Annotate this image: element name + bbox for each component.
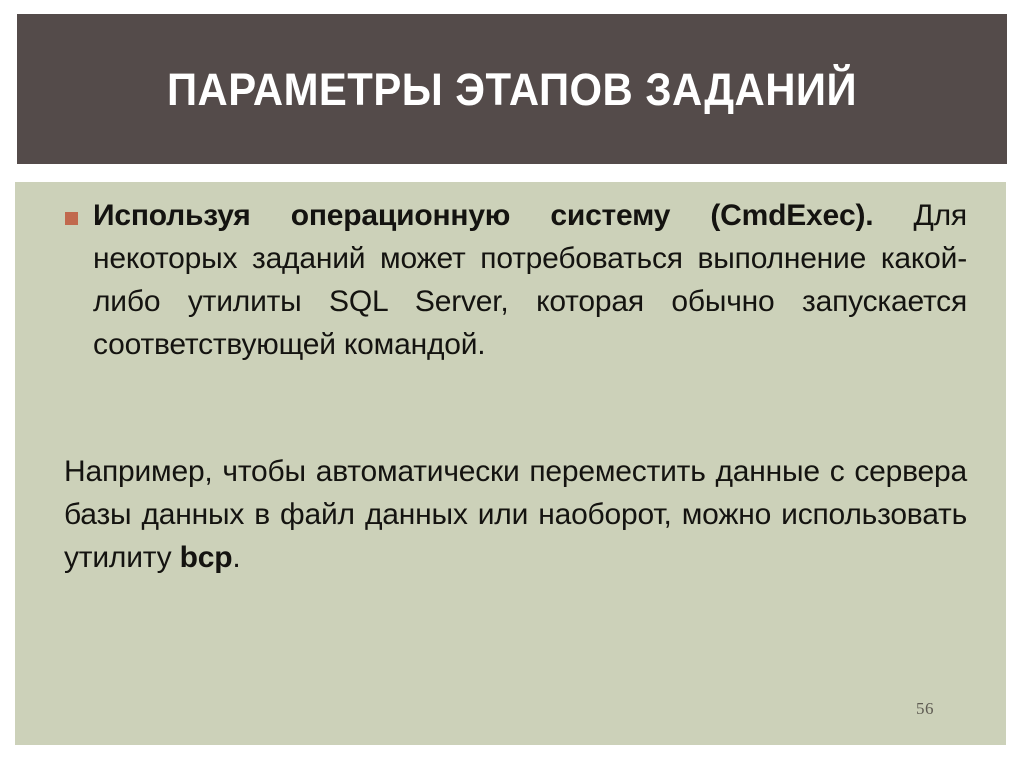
presentation-slide: ПАРАМЕТРЫ ЭТАПОВ ЗАДАНИЙ Используя опера… [0, 0, 1024, 767]
example-paragraph-text-after: . [232, 541, 240, 574]
slide-body-panel: Используя операционную систему (CmdExec)… [15, 182, 1006, 745]
bullet-list-item: Используя операционную систему (CmdExec)… [50, 194, 967, 366]
page-number: 56 [916, 700, 934, 717]
paragraph-spacer [50, 366, 967, 450]
slide-title-band: ПАРАМЕТРЫ ЭТАПОВ ЗАДАНИЙ [17, 14, 1007, 164]
utility-name-bold: bcp [180, 541, 233, 574]
page-title: ПАРАМЕТРЫ ЭТАПОВ ЗАДАНИЙ [167, 67, 857, 112]
square-bullet-icon [65, 212, 78, 225]
slide-content: Используя операционную систему (CmdExec)… [50, 194, 967, 579]
example-paragraph: Например, чтобы автоматически переместит… [50, 450, 967, 579]
bullet-item-lead-bold: Используя операционную систему (CmdExec)… [93, 199, 873, 232]
